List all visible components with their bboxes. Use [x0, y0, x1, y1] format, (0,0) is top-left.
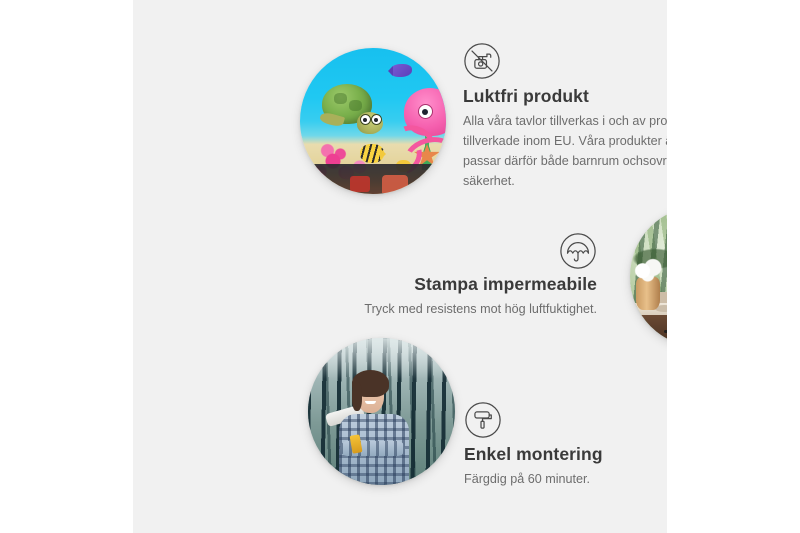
umbrella-icon: [559, 232, 597, 270]
feature-odor-free: Luktfri produkt Alla våra tavlor tillver…: [463, 42, 667, 192]
floor-object-red-2: [382, 175, 408, 193]
fish-purple-icon: [390, 64, 412, 77]
floor-object-red: [350, 176, 370, 192]
feature-easy-mounting: Enkel montering Färgdig på 60 minuter.: [464, 401, 667, 490]
octopus-eye: [418, 104, 433, 119]
woman-hair-side: [352, 382, 362, 411]
feature-title: Luktfri produkt: [463, 86, 667, 107]
photo-woman-paint-roller: [308, 338, 455, 485]
white-flowers: [630, 257, 667, 282]
photo-bathroom-botanical: [630, 206, 667, 347]
photo-underwater-scene: [300, 48, 446, 194]
woman-illustration: [308, 338, 455, 485]
bathroom-illustration: [630, 206, 667, 347]
feature-title: Enkel montering: [464, 444, 667, 465]
content-panel: Luktfri produkt Alla våra tavlor tillver…: [133, 0, 667, 533]
underwater-illustration: [300, 48, 446, 194]
feature-body: Tryck med resistens mot hög luftfuktighe…: [329, 300, 597, 320]
feature-body: Färgdig på 60 minuter.: [464, 470, 667, 490]
product-feature-graphic: Luktfri produkt Alla våra tavlor tillver…: [0, 0, 800, 533]
feature-waterproof-print: Stampa impermeabile Tryck med resistens …: [329, 232, 597, 320]
paint-roller-icon: [464, 401, 502, 439]
drawer-handle: [664, 330, 667, 333]
woman-smile: [365, 401, 375, 404]
feature-title: Stampa impermeabile: [329, 274, 597, 295]
turtle-eye-left: [360, 114, 371, 125]
fish-yellow-icon: [360, 144, 384, 163]
feature-body: Alla våra tavlor tillverkas i och av pro…: [463, 112, 667, 192]
no-spray-bottle-icon: [463, 42, 501, 80]
scene-floor: [300, 164, 446, 194]
turtle-eye-right: [371, 114, 382, 125]
